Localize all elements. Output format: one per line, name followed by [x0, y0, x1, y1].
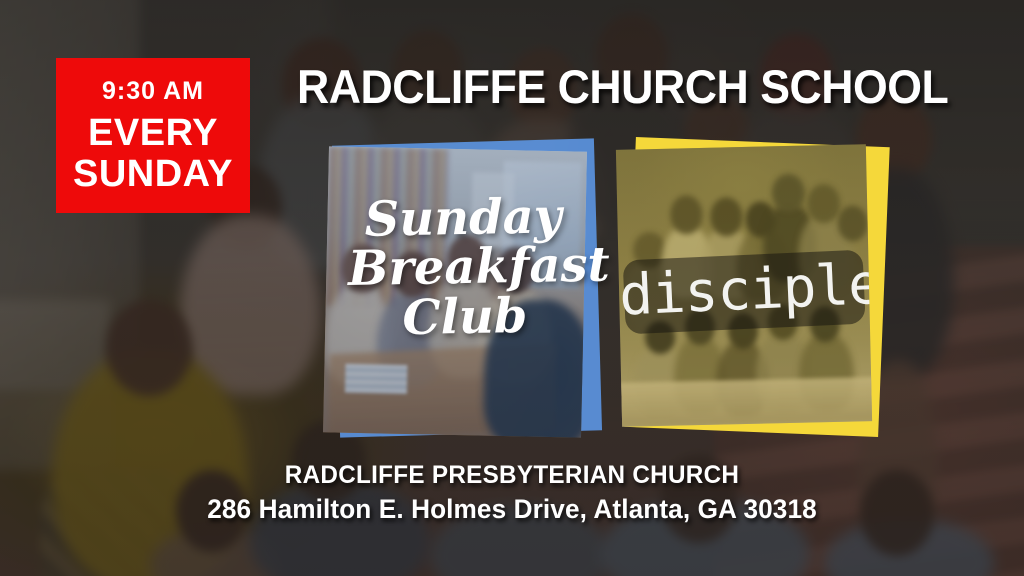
card-sunday-breakfast-club: Sunday Breakfast Club: [322, 132, 622, 462]
card-title-line-2: Breakfast: [348, 241, 581, 294]
card-title-disciples: disciples: [617, 245, 870, 336]
card-title-line-3: Club: [348, 291, 581, 344]
badge-sunday: SUNDAY: [73, 155, 233, 193]
footer: RADCLIFFE PRESBYTERIAN CHURCH 286 Hamilt…: [0, 459, 1024, 527]
event-flyer: 9:30 AM EVERY SUNDAY RADCLIFFE CHURCH SC…: [0, 0, 1024, 576]
schedule-badge: 9:30 AM EVERY SUNDAY: [56, 58, 250, 213]
footer-organization: RADCLIFFE PRESBYTERIAN CHURCH: [15, 459, 1008, 491]
badge-time: 9:30 AM: [102, 79, 204, 104]
card-photo-disciples: disciples: [616, 144, 872, 427]
badge-every: EVERY: [88, 114, 218, 152]
card-disciples: disciples: [608, 136, 908, 456]
footer-address: 286 Hamilton E. Holmes Drive, Atlanta, G…: [15, 491, 1008, 527]
card-title-sunday-breakfast-club: Sunday Breakfast Club: [347, 192, 582, 344]
page-title: RADCLIFFE CHURCH SCHOOL: [297, 59, 943, 114]
